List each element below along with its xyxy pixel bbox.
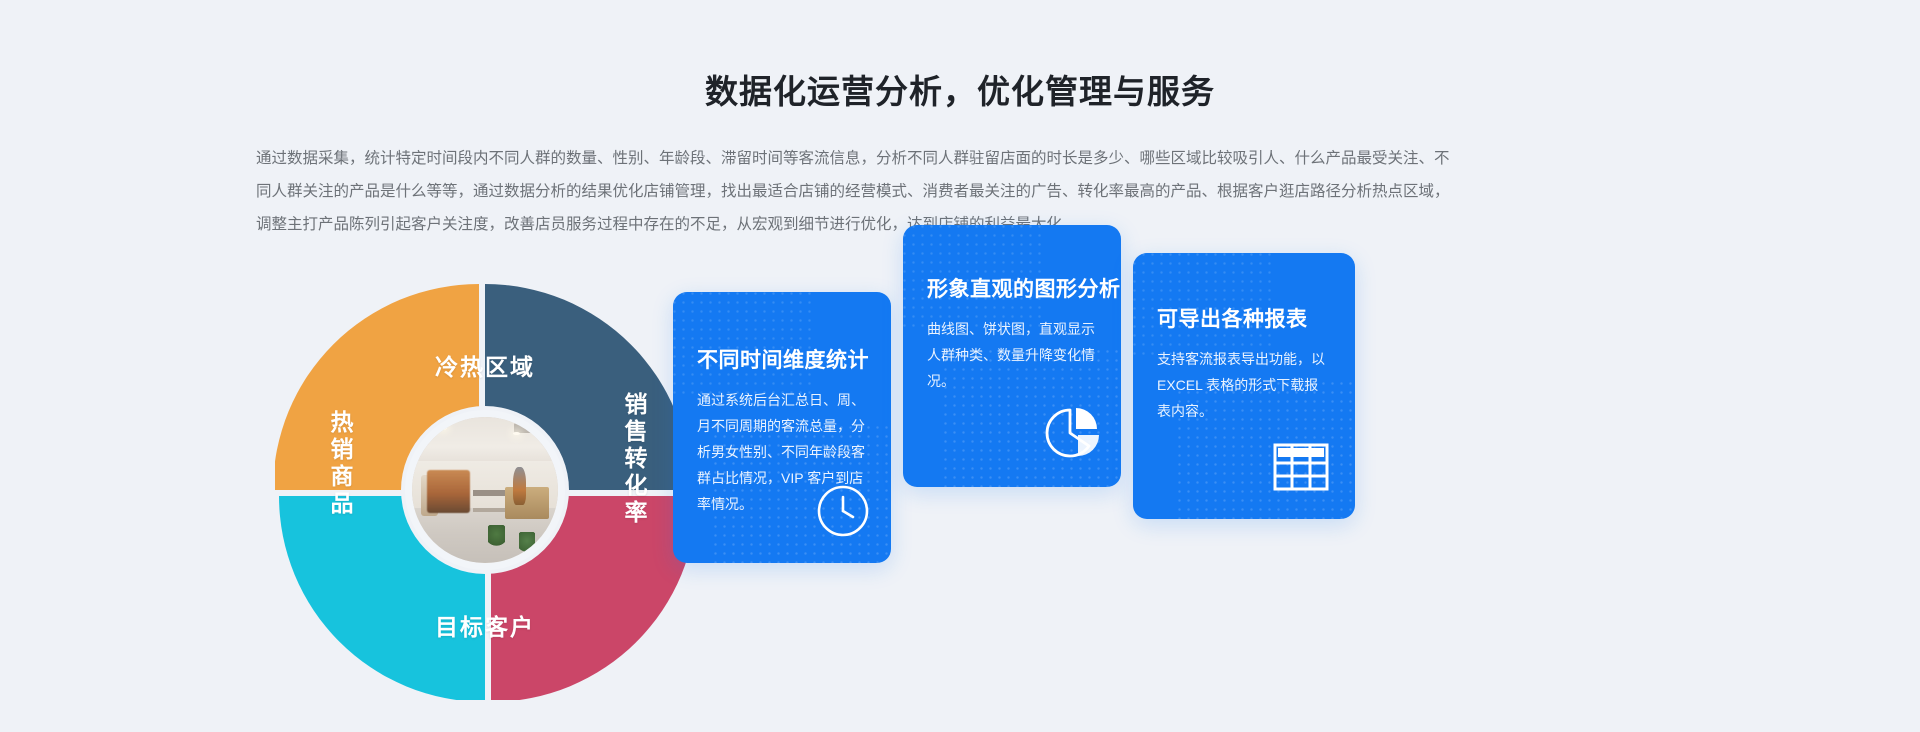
photo-plant-2 [519, 532, 535, 554]
feature-card-time-dimension-stats[interactable]: 不同时间维度统计 通过系统后台汇总日、周、月不同周期的客流总量，分析男女性别、不… [673, 292, 891, 563]
segmented-wheel-diagram: 冷热区域 销售转化率 目标客户 热销商品 [275, 280, 695, 700]
page-root: 数据化运营分析，优化管理与服务 通过数据采集，统计特定时间段内不同人群的数量、性… [0, 0, 1920, 732]
table-icon [1273, 443, 1329, 496]
wheel-label-target-customer: 目标客户 [275, 608, 695, 642]
store-interior-photo [405, 410, 565, 570]
intro-line-1: 通过数据采集，统计特定时间段内不同人群的数量、性别、年龄段、滞留时间等客流信息，… [256, 142, 1668, 175]
photo-inner [412, 417, 558, 563]
page-title: 数据化运营分析，优化管理与服务 [0, 70, 1920, 114]
photo-plant-1 [488, 525, 506, 548]
pie-chart-icon [1043, 403, 1103, 468]
clock-icon [815, 483, 871, 544]
card-description: 支持客流报表导出功能，以 EXCEL 表格的形式下载报表内容。 [1157, 346, 1329, 424]
photo-mannequin [513, 467, 526, 505]
feature-card-visual-graph-analysis[interactable]: 形象直观的图形分析 曲线图、饼状图，直观显示人群种类、数量升降变化情况。 [903, 225, 1121, 487]
card-title: 形象直观的图形分析 [927, 273, 1121, 303]
wheel-label-hot-cold-zone: 冷热区域 [275, 348, 695, 382]
photo-light-1 [438, 426, 447, 430]
wheel-label-hot-products: 热销商品 [311, 410, 369, 518]
card-title: 可导出各种报表 [1157, 303, 1308, 333]
card-title: 不同时间维度统计 [697, 344, 869, 374]
card-description: 曲线图、饼状图，直观显示人群种类、数量升降变化情况。 [927, 316, 1103, 394]
intro-line-2: 同人群关注的产品是什么等等，通过数据分析的结果优化店铺管理，找出最适合店铺的经营… [256, 175, 1668, 208]
feature-card-export-reports[interactable]: 可导出各种报表 支持客流报表导出功能，以 EXCEL 表格的形式下载报表内容。 [1133, 253, 1355, 519]
wheel-label-sales-conversion: 销售转化率 [605, 392, 663, 527]
photo-clothing-rack-1 [427, 470, 471, 514]
